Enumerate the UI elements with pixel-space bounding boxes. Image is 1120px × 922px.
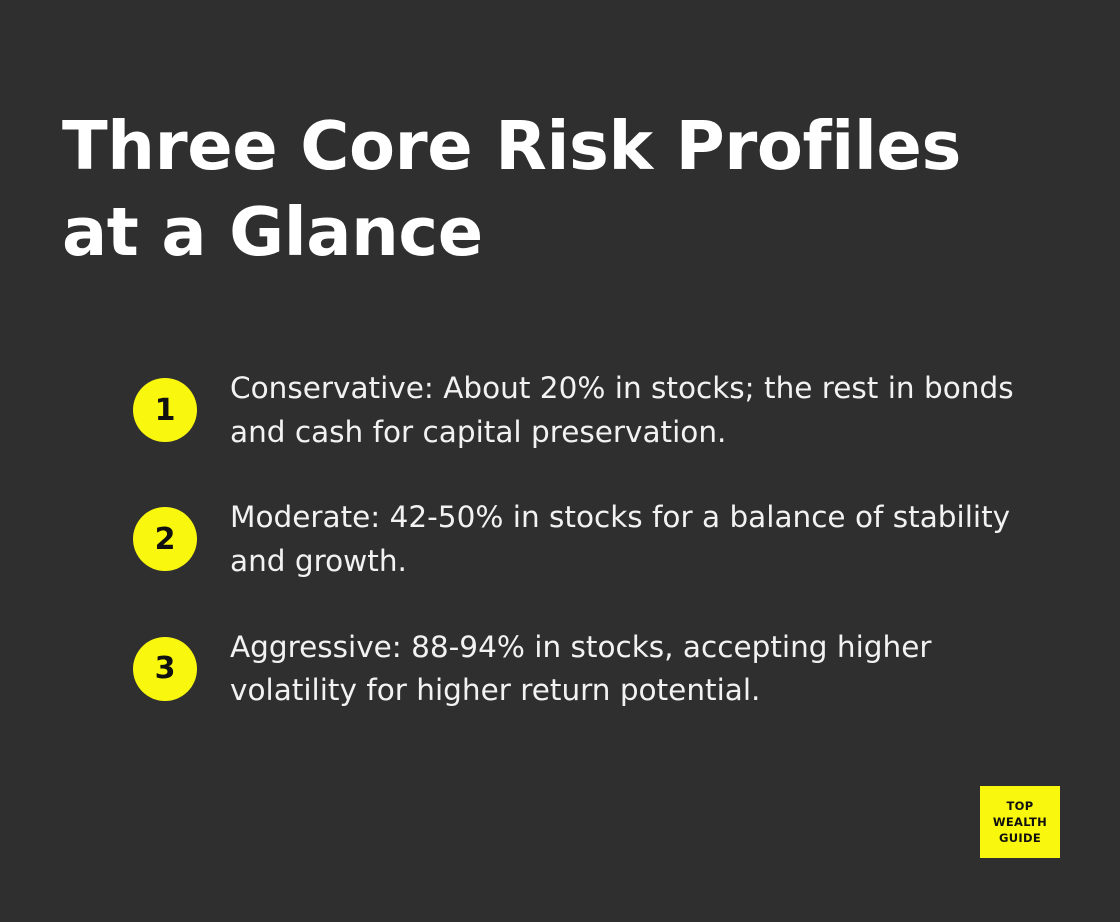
brand-logo: TOP WEALTH GUIDE <box>980 786 1060 858</box>
slide-canvas: Three Core Risk Profiles at a Glance 1 C… <box>0 0 1120 922</box>
list-item: 2 Moderate: 42-50% in stocks for a balan… <box>133 494 1063 583</box>
brand-logo-line-3: GUIDE <box>999 830 1041 846</box>
bullet-number-badge: 3 <box>133 637 197 701</box>
list-item: 1 Conservative: About 20% in stocks; the… <box>133 365 1063 454</box>
page-title: Three Core Risk Profiles at a Glance <box>62 104 992 276</box>
risk-profile-list: 1 Conservative: About 20% in stocks; the… <box>133 365 1063 713</box>
bullet-number-badge: 2 <box>133 507 197 571</box>
bullet-text: Conservative: About 20% in stocks; the r… <box>230 365 1055 454</box>
brand-logo-line-2: WEALTH <box>993 814 1047 830</box>
bullet-number-badge: 1 <box>133 378 197 442</box>
bullet-text: Aggressive: 88-94% in stocks, accepting … <box>230 624 1055 713</box>
bullet-text: Moderate: 42-50% in stocks for a balance… <box>230 494 1055 583</box>
list-item: 3 Aggressive: 88-94% in stocks, acceptin… <box>133 624 1063 713</box>
brand-logo-line-1: TOP <box>1007 798 1034 814</box>
